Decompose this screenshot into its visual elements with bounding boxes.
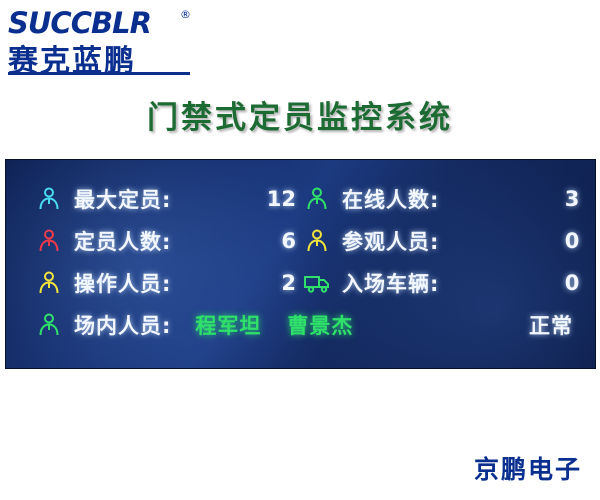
assigned-count-value: 6 xyxy=(171,229,296,253)
led-content-grid: 最大定员: 12 在线人数: 3 xyxy=(6,178,595,346)
onsite-personnel-names: 程军坦 曹景杰 xyxy=(171,310,529,340)
person-yellow-icon xyxy=(302,226,332,256)
list-item: 曹景杰 xyxy=(287,310,353,340)
footer-brand: 京鹏电子 xyxy=(474,450,582,486)
led-row: 定员人数: 6 参观人员: 0 xyxy=(6,220,595,262)
truck-green-icon xyxy=(302,268,332,298)
operator-count-value: 2 xyxy=(171,271,296,295)
person-green-icon xyxy=(34,310,64,340)
list-item: 程军坦 xyxy=(195,310,261,340)
vehicle-count-field: 入场车辆: 0 xyxy=(296,268,595,298)
online-count-label: 在线人数: xyxy=(332,184,439,214)
online-count-value: 3 xyxy=(439,187,579,211)
max-capacity-field: 最大定员: 12 xyxy=(6,184,296,214)
person-yellow-icon xyxy=(34,268,64,298)
visitor-count-label: 参观人员: xyxy=(332,226,439,256)
person-red-icon xyxy=(34,226,64,256)
company-logo: SUCCBLR ® 赛克蓝鹏 xyxy=(8,6,238,72)
visitor-count-value: 0 xyxy=(439,229,579,253)
assigned-count-label: 定员人数: xyxy=(64,226,171,256)
led-display-panel: 最大定员: 12 在线人数: 3 xyxy=(5,159,596,369)
max-capacity-label: 最大定员: xyxy=(64,184,171,214)
onsite-personnel-field: 场内人员: 程军坦 曹景杰 正常 xyxy=(6,304,595,346)
registered-trademark-icon: ® xyxy=(180,8,191,21)
operator-count-field: 操作人员: 2 xyxy=(6,268,296,298)
status-badge: 正常 xyxy=(529,310,595,340)
online-count-field: 在线人数: 3 xyxy=(296,184,595,214)
led-row: 操作人员: 2 入场车辆: 0 xyxy=(6,262,595,304)
operator-count-label: 操作人员: xyxy=(64,268,171,298)
logo-english-text: SUCCBLR xyxy=(8,6,151,40)
assigned-count-field: 定员人数: 6 xyxy=(6,226,296,256)
led-row: 最大定员: 12 在线人数: 3 xyxy=(6,178,595,220)
person-green-icon xyxy=(302,184,332,214)
page-title: 门禁式定员监控系统 xyxy=(0,92,600,137)
vehicle-count-label: 入场车辆: xyxy=(332,268,439,298)
vehicle-count-value: 0 xyxy=(439,271,579,295)
max-capacity-value: 12 xyxy=(171,187,296,211)
logo-underline xyxy=(8,72,190,75)
person-cyan-icon xyxy=(34,184,64,214)
onsite-personnel-label: 场内人员: xyxy=(64,310,171,340)
visitor-count-field: 参观人员: 0 xyxy=(296,226,595,256)
